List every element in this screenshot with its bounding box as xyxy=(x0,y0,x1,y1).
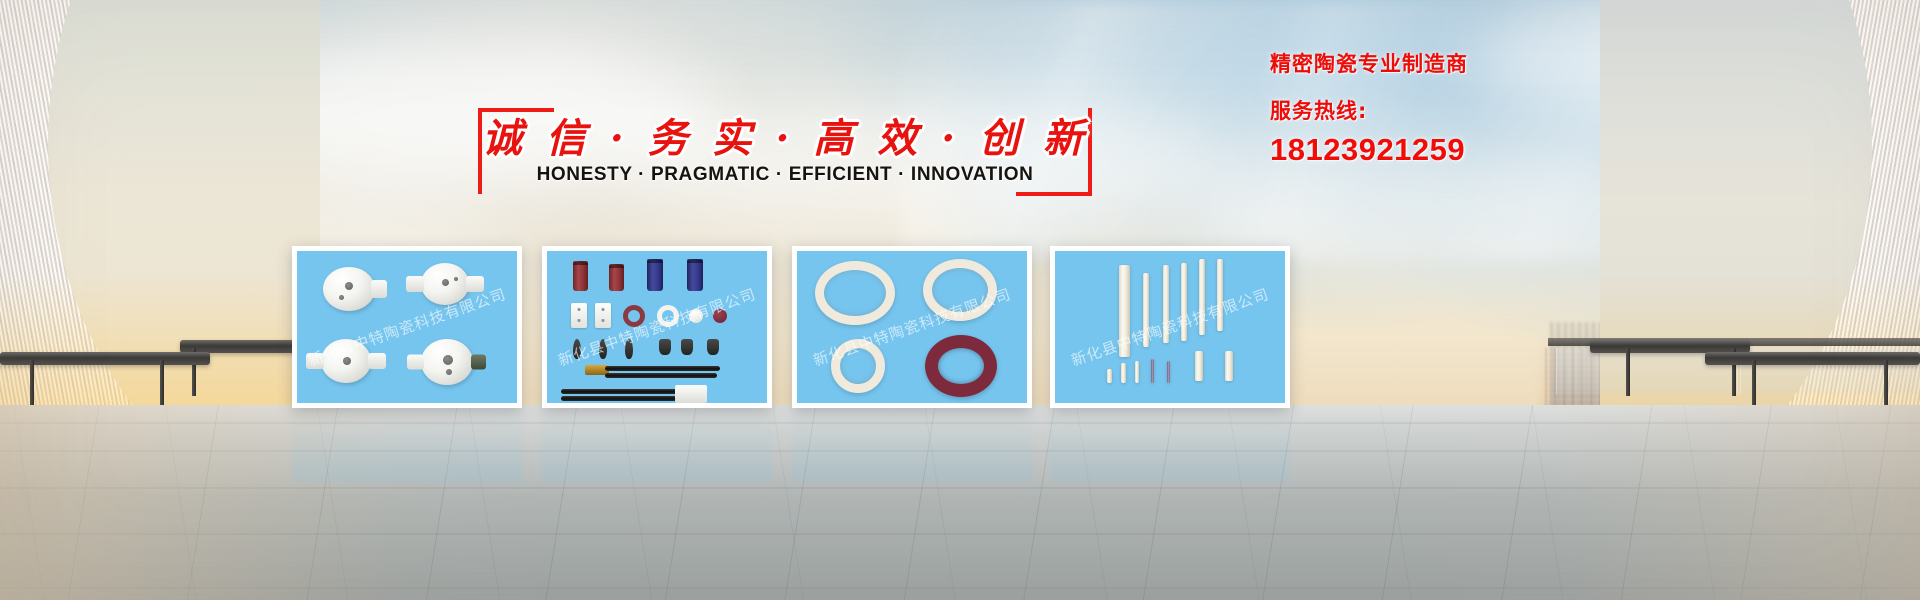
handrail-post xyxy=(1752,360,1756,408)
metal-contact-blade xyxy=(599,339,607,359)
ceramic-pin-lilac xyxy=(1167,361,1170,383)
panel-reflection xyxy=(542,410,772,482)
ceramic-sleeve xyxy=(687,259,703,291)
handrail-post xyxy=(1884,360,1888,408)
ceramic-plate xyxy=(595,303,611,328)
panel-inner: 新化县中特陶瓷科技有限公司 xyxy=(797,251,1027,403)
product-panel-ceramic-rods[interactable]: 新化县中特陶瓷科技有限公司 xyxy=(1050,246,1290,408)
product-panel-sleeves-wires[interactable]: 新化县中特陶瓷科技有限公司 xyxy=(542,246,772,408)
metal-contact-blade xyxy=(625,339,633,359)
ceramic-rod-short xyxy=(1225,351,1233,381)
ceramic-sleeve xyxy=(573,261,588,291)
ceramic-pin xyxy=(1107,369,1112,383)
ceramic-cap xyxy=(689,309,703,323)
white-connector-block xyxy=(675,385,707,403)
ceramic-rod xyxy=(1143,273,1149,347)
panel-inner: 新化县中特陶瓷科技有限公司 xyxy=(1055,251,1285,403)
panel-reflection xyxy=(792,410,1032,482)
black-lead-wire xyxy=(561,396,679,401)
ceramic-ring-wine xyxy=(925,335,997,397)
ceramic-lamp-holder xyxy=(321,339,371,383)
contact-block: 精密陶瓷专业制造商 服务热线: 18123921259 xyxy=(1270,54,1600,165)
metal-contact-blade xyxy=(573,339,581,359)
panel-reflection xyxy=(292,410,522,482)
panel-watermark: 新化县中特陶瓷科技有限公司 xyxy=(1068,283,1272,371)
handrail-post xyxy=(1626,348,1630,396)
ceramic-rod xyxy=(1181,263,1187,341)
hero-banner: 诚 信 · 务 实 · 高 效 · 创 新 HONESTY · PRAGMATI… xyxy=(0,0,1920,600)
ceramic-pin-lilac xyxy=(1151,359,1154,383)
ceramic-ring-small xyxy=(657,305,679,327)
ceramic-rod-short xyxy=(1195,351,1203,381)
handrail-post xyxy=(160,360,164,408)
right-handrail-lower xyxy=(1705,352,1920,412)
left-handrail-lower xyxy=(0,352,210,412)
ceramic-ring-small xyxy=(623,305,645,327)
ceramic-sleeve xyxy=(647,259,663,291)
ceramic-pin xyxy=(1135,361,1139,383)
ceramic-cap-maroon xyxy=(713,309,727,323)
hotline-label: 服务热线: xyxy=(1270,101,1600,122)
slogan-chinese: 诚 信 · 务 实 · 高 效 · 创 新 xyxy=(478,106,1092,164)
product-panel-ceramic-rings[interactable]: 新化县中特陶瓷科技有限公司 xyxy=(792,246,1032,408)
ceramic-plate xyxy=(571,303,587,328)
ceramic-lamp-holder xyxy=(323,267,375,311)
black-lead-wire xyxy=(605,366,720,371)
metal-contact-clip xyxy=(681,339,693,355)
ceramic-rod xyxy=(1119,265,1130,357)
floor-warm-light-right xyxy=(1400,405,1920,600)
ceramic-ring-large xyxy=(923,259,997,321)
metal-contact-clip xyxy=(707,339,719,355)
ceramic-rod xyxy=(1163,265,1169,343)
slogan-block: 诚 信 · 务 实 · 高 效 · 创 新 HONESTY · PRAGMATI… xyxy=(478,108,1092,196)
ceramic-lamp-holder xyxy=(421,339,473,385)
panel-inner: 新化县中特陶瓷科技有限公司 xyxy=(297,251,517,403)
ceramic-ring-medium xyxy=(831,339,885,393)
company-tagline: 精密陶瓷专业制造商 xyxy=(1270,54,1600,75)
slogan-english: HONESTY · PRAGMATIC · EFFICIENT · INNOVA… xyxy=(478,164,1092,186)
metal-contact-clip xyxy=(659,339,671,355)
ceramic-rod xyxy=(1217,259,1223,331)
ceramic-sleeve xyxy=(609,264,624,291)
product-panel-lamp-holders[interactable]: 新化县中特陶瓷科技有限公司 xyxy=(292,246,522,408)
black-lead-wire xyxy=(605,373,717,378)
black-lead-wire xyxy=(561,389,679,394)
ceramic-rod xyxy=(1199,259,1205,335)
handrail-post xyxy=(30,360,34,408)
ceramic-ring-large xyxy=(815,261,895,325)
ceramic-lamp-holder xyxy=(421,263,469,305)
panel-inner: 新化县中特陶瓷科技有限公司 xyxy=(547,251,767,403)
hotline-phone-number[interactable]: 18123921259 xyxy=(1270,134,1600,165)
product-gallery: 新化县中特陶瓷科技有限公司 xyxy=(292,246,1292,408)
ceramic-pin xyxy=(1121,363,1126,383)
panel-reflection xyxy=(1050,410,1290,482)
